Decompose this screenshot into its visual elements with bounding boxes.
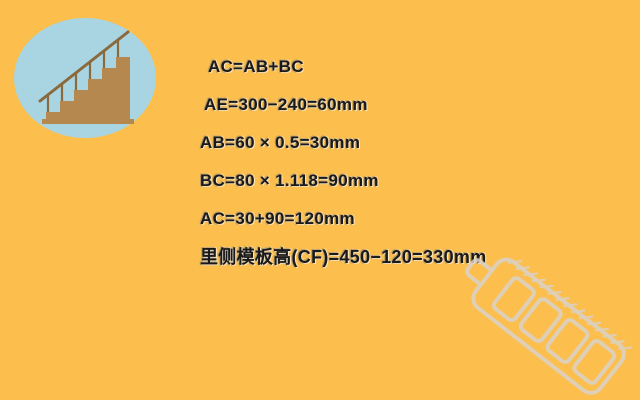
staircase-icon: [14, 18, 156, 138]
stair-body: [46, 57, 130, 122]
stair-base: [42, 119, 134, 124]
slide-canvas: AC=AB+BC AE=300−240=60mm AB=60 × 0.5=30m…: [0, 0, 640, 400]
equation-list: AC=AB+BC AE=300−240=60mm AB=60 × 0.5=30m…: [200, 54, 620, 282]
equation-line-1: AC=AB+BC: [200, 54, 620, 92]
equation-line-2: AE=300−240=60mm: [200, 92, 620, 130]
staircase-illustration: [14, 18, 156, 138]
equation-line-5: AC=30+90=120mm: [200, 206, 620, 244]
equation-line-3: AB=60 × 0.5=30mm: [200, 130, 620, 168]
equation-line-6: 里侧模板高(CF)=450−120=330mm: [200, 244, 620, 282]
equation-line-4: BC=80 × 1.118=90mm: [200, 168, 620, 206]
